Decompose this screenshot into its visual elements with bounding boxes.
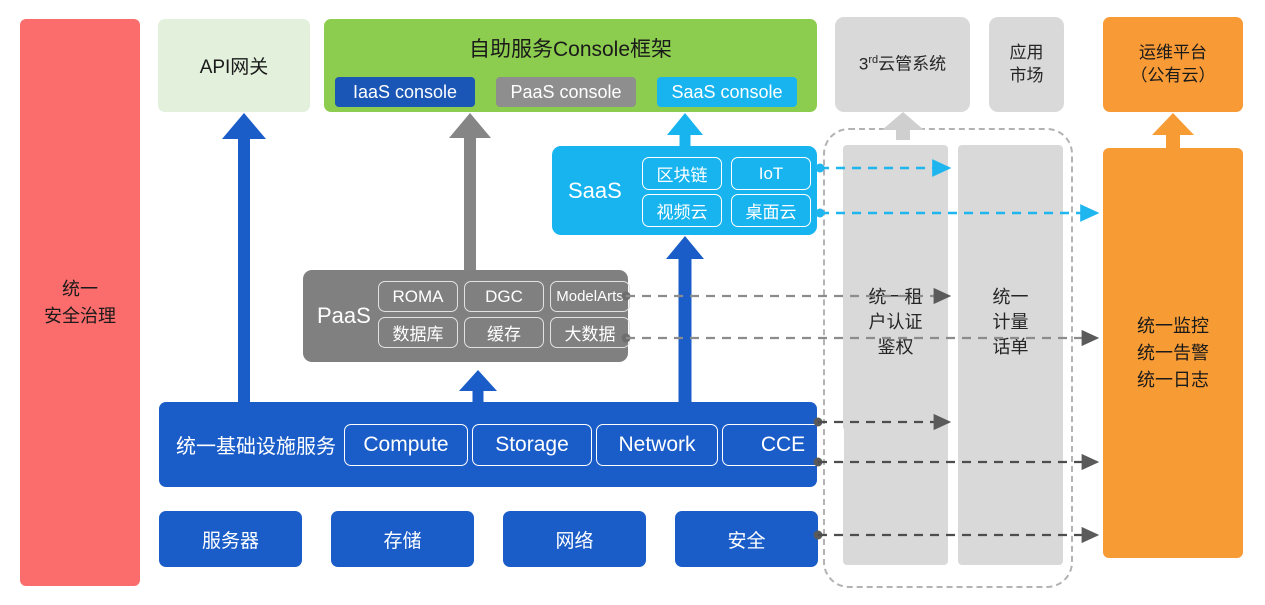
paas-item-dgc-label: DGC xyxy=(485,287,523,307)
security-governance-line1: 统一 xyxy=(44,276,116,302)
resource-box-storage[interactable]: 存储 xyxy=(331,511,474,567)
arrow-saas-to-console xyxy=(667,113,703,146)
unified-ops-line3: 统一日志 xyxy=(1137,367,1209,394)
security-governance-line2: 安全治理 xyxy=(44,303,116,329)
iaas-block: 统一基础设施服务 Compute Storage Network CCE xyxy=(159,402,817,487)
paas-item-roma[interactable]: ROMA xyxy=(378,281,458,312)
saas-item-video-cloud-label: 视频云 xyxy=(657,198,708,223)
iaas-item-compute-label: Compute xyxy=(363,433,448,457)
unified-billing-line1: 统一 xyxy=(958,285,1063,310)
iaas-item-storage[interactable]: Storage xyxy=(472,424,592,466)
unified-ops-panel: 统一监控 统一告警 统一日志 xyxy=(1103,148,1243,558)
unified-billing-line2: 计量 xyxy=(958,310,1063,335)
arrow-iaas-to-api-gateway xyxy=(222,113,266,402)
iaas-item-cce[interactable]: CCE xyxy=(722,424,844,466)
unified-ops-line1: 统一监控 xyxy=(1137,313,1209,340)
iaas-item-cce-label: CCE xyxy=(761,433,805,457)
iaas-item-network-label: Network xyxy=(618,433,695,457)
iaas-item-storage-label: Storage xyxy=(495,433,569,457)
ops-platform-line2: （公有云） xyxy=(1131,65,1216,88)
chip-paas-console[interactable]: PaaS console xyxy=(496,77,636,107)
resource-box-server[interactable]: 服务器 xyxy=(159,511,302,567)
app-market-box[interactable]: 应用 市场 xyxy=(989,17,1064,112)
console-framework-title: 自助服务Console框架 xyxy=(324,33,817,63)
saas-block: SaaS 区块链 IoT 视频云 桌面云 xyxy=(552,146,817,235)
chip-saas-console[interactable]: SaaS console xyxy=(657,77,797,107)
third-party-cloud-mgmt-box[interactable]: 3rd云管系统 xyxy=(835,17,970,112)
saas-item-iot[interactable]: IoT xyxy=(731,157,811,190)
resource-box-security[interactable]: 安全 xyxy=(675,511,818,567)
app-market-line1: 应用 xyxy=(1010,42,1044,65)
paas-block: PaaS ROMA DGC ModelArts 数据库 缓存 大数据 xyxy=(303,270,628,362)
paas-item-database-label: 数据库 xyxy=(393,320,444,345)
architecture-diagram: 统一 安全治理 API网关 自助服务Console框架 IaaS console… xyxy=(0,0,1265,605)
third-party-superscript: rd xyxy=(868,54,878,66)
iaas-item-network[interactable]: Network xyxy=(596,424,718,466)
paas-item-database[interactable]: 数据库 xyxy=(378,317,458,348)
arrow-ops-panel-to-ops-platform xyxy=(1152,113,1194,149)
resource-box-security-label: 安全 xyxy=(727,526,765,553)
chip-iaas-console-label: IaaS console xyxy=(353,82,457,103)
saas-item-desktop-cloud-label: 桌面云 xyxy=(746,198,797,223)
unified-billing-column: 统一 计量 话单 xyxy=(958,145,1063,565)
ops-platform-top-box[interactable]: 运维平台 （公有云） xyxy=(1103,17,1243,112)
saas-item-video-cloud[interactable]: 视频云 xyxy=(642,194,722,227)
paas-item-bigdata[interactable]: 大数据 xyxy=(550,317,630,348)
security-governance-panel: 统一 安全治理 xyxy=(20,19,140,586)
api-gateway-box[interactable]: API网关 xyxy=(158,19,310,112)
saas-block-label: SaaS xyxy=(568,146,622,235)
paas-item-modelarts[interactable]: ModelArts xyxy=(550,281,630,312)
paas-item-dgc[interactable]: DGC xyxy=(464,281,544,312)
unified-ops-line2: 统一告警 xyxy=(1137,340,1209,367)
paas-item-cache-label: 缓存 xyxy=(487,320,521,345)
third-party-label: 云管系统 xyxy=(878,54,946,73)
saas-item-iot-label: IoT xyxy=(759,164,784,184)
unified-billing-line3: 话单 xyxy=(958,335,1063,360)
arrow-iaas-to-saas xyxy=(666,236,704,402)
iaas-item-compute[interactable]: Compute xyxy=(344,424,468,466)
resource-box-network[interactable]: 网络 xyxy=(503,511,646,567)
unified-auth-line3: 鉴权 xyxy=(843,335,948,360)
arrow-region-to-third-party xyxy=(882,112,924,140)
ops-platform-line1: 运维平台 xyxy=(1131,42,1216,65)
resource-box-storage-label: 存储 xyxy=(383,526,421,553)
arrow-paas-to-console xyxy=(449,113,491,270)
paas-item-roma-label: ROMA xyxy=(393,287,444,307)
paas-item-modelarts-label: ModelArts xyxy=(556,288,624,305)
unified-auth-column: 统一租 户认证 鉴权 xyxy=(843,145,948,565)
chip-paas-console-label: PaaS console xyxy=(510,82,621,103)
saas-item-blockchain[interactable]: 区块链 xyxy=(642,157,722,190)
console-framework-box: 自助服务Console框架 IaaS console PaaS console … xyxy=(324,19,817,112)
iaas-block-label: 统一基础设施服务 xyxy=(176,402,336,487)
chip-saas-console-label: SaaS console xyxy=(671,82,782,103)
paas-block-label: PaaS xyxy=(317,270,371,362)
paas-item-bigdata-label: 大数据 xyxy=(565,320,616,345)
resource-box-network-label: 网络 xyxy=(555,526,593,553)
paas-item-cache[interactable]: 缓存 xyxy=(464,317,544,348)
resource-box-server-label: 服务器 xyxy=(202,526,259,553)
api-gateway-label: API网关 xyxy=(200,52,269,79)
chip-iaas-console[interactable]: IaaS console xyxy=(335,77,475,107)
unified-auth-line1: 统一租 xyxy=(843,285,948,310)
app-market-line2: 市场 xyxy=(1010,65,1044,88)
saas-item-blockchain-label: 区块链 xyxy=(657,161,708,186)
third-party-prefix: 3 xyxy=(859,54,868,73)
unified-auth-line2: 户认证 xyxy=(843,310,948,335)
arrow-iaas-to-paas xyxy=(459,370,497,402)
saas-item-desktop-cloud[interactable]: 桌面云 xyxy=(731,194,811,227)
